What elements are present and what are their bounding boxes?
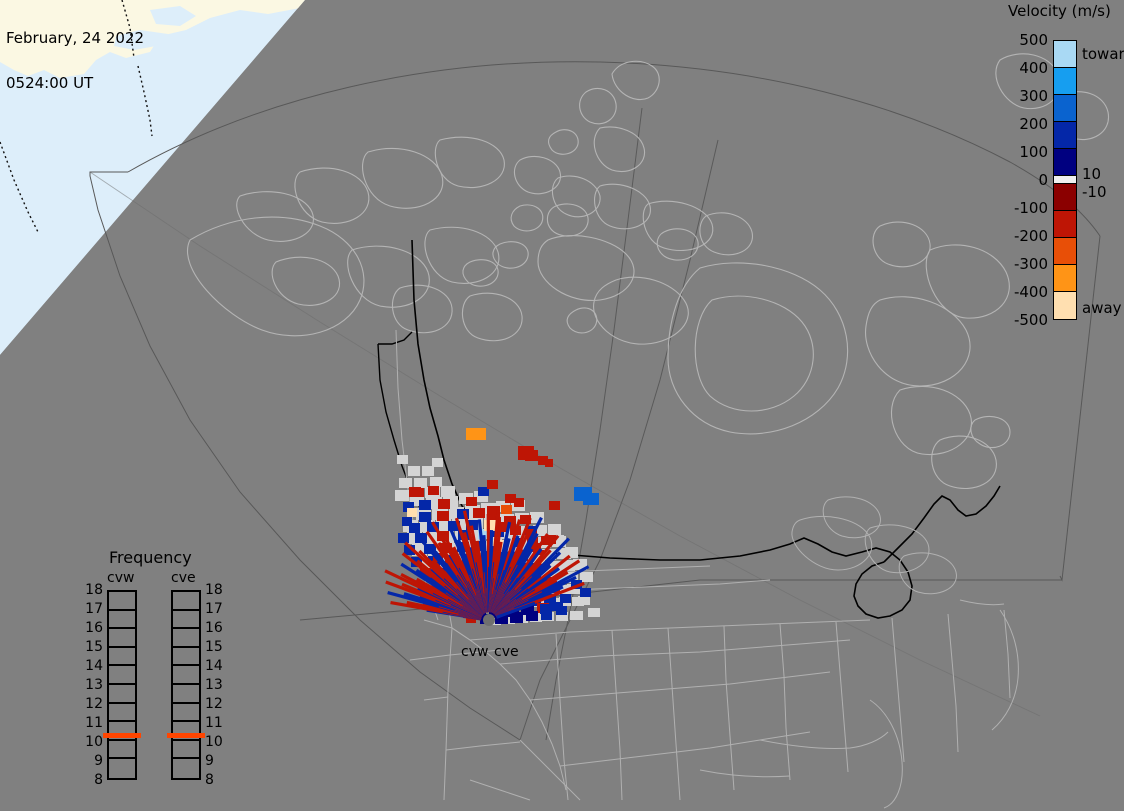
- velocity-cell: [466, 497, 477, 506]
- velocity-cell: [419, 500, 431, 510]
- velocity-tick--500: -500: [1014, 311, 1048, 329]
- velocity-tick-0: 0: [1038, 171, 1048, 189]
- frequency-cell-cve-7: [173, 722, 199, 741]
- velocity-band-450: [1054, 41, 1076, 68]
- frequency-cell-cve-2: [173, 629, 199, 648]
- velocity-cell: [473, 508, 485, 518]
- frequency-cell-cvw-3: [109, 648, 135, 667]
- frequency-highlight-cvw: [103, 733, 141, 738]
- frequency-tick-8: 8: [205, 772, 227, 788]
- velocity-band-150: [1054, 122, 1076, 149]
- velocity-band--450: [1054, 292, 1076, 319]
- frequency-legend: Frequency cvw cve 18171615141312111098 1…: [85, 548, 235, 788]
- velocity-cell: [580, 588, 591, 597]
- frequency-tick-18: 18: [81, 582, 103, 598]
- ground-scatter-cell: [430, 477, 442, 487]
- velocity-cell: [583, 493, 599, 505]
- velocity-tick--100: -100: [1014, 199, 1048, 217]
- velocity-band-250: [1054, 95, 1076, 122]
- frequency-tick-17: 17: [205, 601, 227, 617]
- velocity-label-toward: toward: [1082, 45, 1124, 63]
- velocity-cell: [419, 512, 431, 522]
- frequency-bar-cve: [171, 590, 201, 780]
- velocity-band-0: [1054, 176, 1076, 184]
- velocity-cell: [560, 594, 571, 603]
- ground-scatter-cell: [397, 455, 408, 464]
- ground-scatter-cell: [548, 524, 561, 535]
- frequency-cell-cve-9: [173, 759, 199, 778]
- velocity-tick--200: -200: [1014, 227, 1048, 245]
- frequency-cell-cve-4: [173, 666, 199, 685]
- frequency-cell-cve-5: [173, 685, 199, 704]
- velocity-band--150: [1054, 211, 1076, 238]
- velocity-band--350: [1054, 265, 1076, 292]
- velocity-legend: Velocity (m/s) 5004003002001000-100-200-…: [1000, 0, 1124, 330]
- frequency-tick-11: 11: [205, 715, 227, 731]
- frequency-cell-cve-1: [173, 611, 199, 630]
- frequency-cell-cve-3: [173, 648, 199, 667]
- ground-scatter-cell: [399, 478, 412, 488]
- velocity-tick--300: -300: [1014, 255, 1048, 273]
- velocity-tick-500: 500: [1019, 31, 1048, 49]
- timestamp-date: February, 24 2022: [6, 31, 144, 46]
- frequency-tick-16: 16: [205, 620, 227, 636]
- frequency-cell-cve-8: [173, 741, 199, 760]
- frequency-tick-13: 13: [81, 677, 103, 693]
- velocity-tick--400: -400: [1014, 283, 1048, 301]
- ground-scatter-cell: [414, 478, 427, 488]
- velocity-label-neg10: -10: [1082, 183, 1107, 201]
- timestamp: February, 24 2022 0524:00 UT: [6, 1, 144, 121]
- timestamp-time: 0524:00 UT: [6, 76, 144, 91]
- frequency-highlight-cve: [167, 733, 205, 738]
- frequency-legend-title: Frequency: [109, 548, 192, 567]
- velocity-cell: [556, 606, 567, 615]
- velocity-cell: [514, 498, 524, 507]
- velocity-label-away: away: [1082, 299, 1122, 317]
- frequency-tick-18: 18: [205, 582, 227, 598]
- ground-scatter-cell: [422, 466, 434, 476]
- station-label-cve: cve: [494, 644, 519, 660]
- ground-scatter-cell: [395, 490, 409, 501]
- radar-map-screenshot: February, 24 2022 0524:00 UT Velocity (m…: [0, 0, 1124, 811]
- frequency-tick-15: 15: [81, 639, 103, 655]
- velocity-cell: [526, 611, 538, 621]
- frequency-cell-cvw-7: [109, 722, 135, 741]
- velocity-band-350: [1054, 68, 1076, 95]
- velocity-cell: [510, 612, 523, 623]
- velocity-cell: [428, 486, 439, 495]
- velocity-label-pos10: 10: [1082, 165, 1101, 183]
- velocity-cell: [487, 480, 498, 489]
- frequency-cell-cvw-6: [109, 704, 135, 723]
- frequency-cell-cvw-5: [109, 685, 135, 704]
- velocity-cell: [437, 511, 449, 521]
- frequency-cell-cve-0: [173, 592, 199, 611]
- velocity-band--250: [1054, 238, 1076, 265]
- velocity-cell: [540, 604, 552, 614]
- frequency-tick-11: 11: [81, 715, 103, 731]
- frequency-tick-13: 13: [205, 677, 227, 693]
- frequency-tick-16: 16: [81, 620, 103, 636]
- frequency-bar-cvw: [107, 590, 137, 780]
- velocity-band-50: [1054, 149, 1076, 176]
- frequency-tick-17: 17: [81, 601, 103, 617]
- velocity-cell: [501, 505, 512, 514]
- velocity-colorbar: [1053, 40, 1077, 320]
- ground-scatter-cell: [441, 486, 455, 497]
- velocity-tick-200: 200: [1019, 115, 1048, 133]
- velocity-cell: [545, 459, 553, 467]
- velocity-cell: [549, 501, 560, 510]
- ground-scatter-cell: [408, 466, 420, 476]
- ground-scatter-cell: [570, 611, 583, 620]
- frequency-tick-15: 15: [205, 639, 227, 655]
- frequency-cell-cve-6: [173, 704, 199, 723]
- frequency-column-header-cve: cve: [171, 570, 196, 586]
- frequency-cell-cvw-8: [109, 741, 135, 760]
- frequency-cell-cvw-2: [109, 629, 135, 648]
- velocity-legend-title: Velocity (m/s): [1008, 2, 1111, 20]
- frequency-tick-9: 9: [205, 753, 227, 769]
- frequency-tick-9: 9: [81, 753, 103, 769]
- velocity-tick-300: 300: [1019, 87, 1048, 105]
- velocity-cell: [466, 428, 486, 440]
- velocity-cell: [413, 488, 424, 497]
- ground-scatter-cell: [578, 596, 590, 605]
- frequency-tick-10: 10: [81, 734, 103, 750]
- frequency-tick-14: 14: [205, 658, 227, 674]
- frequency-column-header-cvw: cvw: [107, 570, 134, 586]
- ground-scatter-cell: [432, 458, 443, 467]
- frequency-cell-cvw-4: [109, 666, 135, 685]
- frequency-cell-cvw-0: [109, 592, 135, 611]
- velocity-cell: [398, 533, 409, 543]
- velocity-band--50: [1054, 184, 1076, 211]
- ground-scatter-cell: [588, 608, 600, 617]
- velocity-cell: [525, 450, 538, 461]
- velocity-cell: [402, 517, 412, 526]
- velocity-tick-400: 400: [1019, 59, 1048, 77]
- velocity-cell: [415, 533, 427, 543]
- radar-origin-marker: [483, 614, 495, 626]
- frequency-tick-14: 14: [81, 658, 103, 674]
- frequency-tick-12: 12: [81, 696, 103, 712]
- frequency-cell-cvw-9: [109, 759, 135, 778]
- velocity-cell: [407, 508, 417, 517]
- velocity-cell: [438, 499, 450, 509]
- frequency-cell-cvw-1: [109, 611, 135, 630]
- frequency-tick-8: 8: [81, 772, 103, 788]
- station-label-cvw: cvw: [461, 644, 488, 660]
- ground-scatter-cell: [530, 512, 544, 523]
- frequency-tick-12: 12: [205, 696, 227, 712]
- frequency-tick-10: 10: [205, 734, 227, 750]
- velocity-tick-100: 100: [1019, 143, 1048, 161]
